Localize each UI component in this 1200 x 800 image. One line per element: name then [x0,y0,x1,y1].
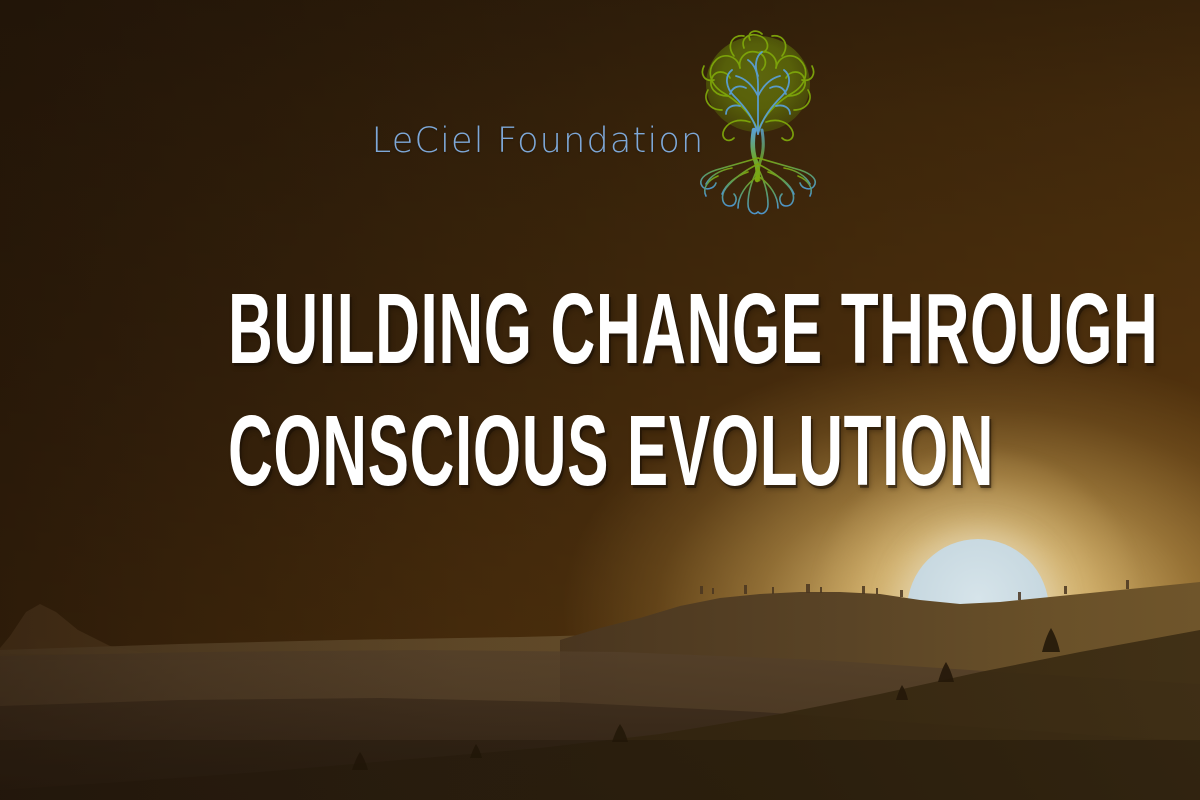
headline: BUILDING CHANGE THROUGH CONSCIOUS EVOLUT… [0,268,1200,512]
logo[interactable]: LeCiel Foundation [0,26,1200,216]
headline-line-1: BUILDING CHANGE THROUGH [228,268,972,390]
filigree-tree-icon [688,26,828,216]
hero-banner: LeCiel Foundation [0,0,1200,800]
logo-wordmark: LeCiel Foundation [372,124,705,159]
headline-line-2: CONSCIOUS EVOLUTION [228,390,972,512]
